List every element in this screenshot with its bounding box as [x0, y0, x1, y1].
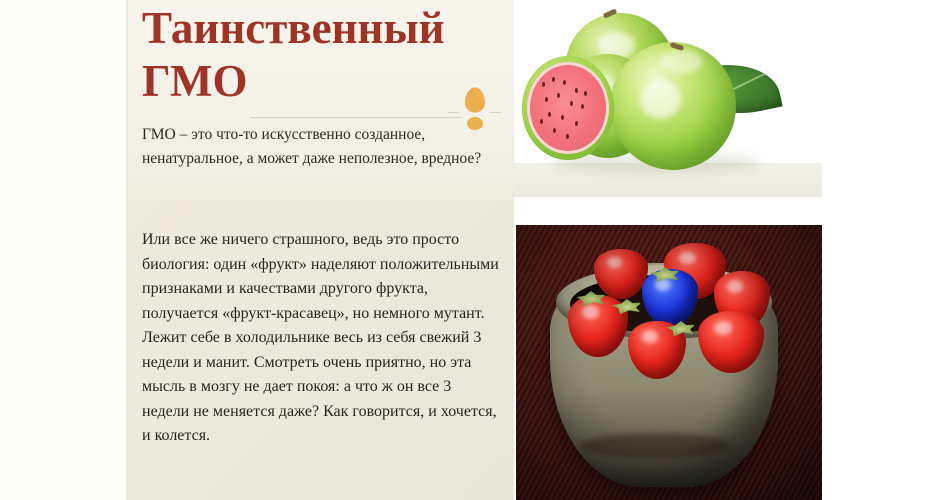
- apple-front: [610, 42, 736, 170]
- left-margin-band: [0, 0, 128, 500]
- presentation-slide: Таинственный ГМО ГМО – это что-то искусс…: [0, 0, 950, 500]
- seed: [566, 134, 569, 139]
- apple-stem: [602, 8, 617, 18]
- seed: [575, 88, 578, 93]
- exclamation-ornament-icon: [462, 88, 488, 134]
- lede-paragraph: ГМО – это что-то искусственно созданное,…: [142, 123, 490, 171]
- apple-pink-flesh: [527, 62, 609, 154]
- berry-shine: [714, 321, 732, 335]
- berry-shine: [727, 280, 743, 293]
- seed: [581, 104, 584, 109]
- ornament-tick-right: [490, 112, 501, 113]
- seed: [540, 119, 543, 124]
- seed: [542, 82, 545, 87]
- body-paragraph: Или все же ничего страшного, ведь это пр…: [142, 228, 502, 449]
- seed: [563, 80, 566, 85]
- apple-sheen: [660, 50, 703, 73]
- bowl-shading: [580, 433, 730, 459]
- apple-cut-half: [522, 56, 614, 160]
- apple-sheen: [640, 80, 680, 118]
- seed: [552, 77, 555, 82]
- berry-shine: [642, 330, 658, 343]
- seed: [561, 115, 564, 120]
- seed: [553, 128, 556, 133]
- seed: [545, 97, 548, 102]
- seed: [548, 112, 551, 117]
- seed: [584, 91, 587, 96]
- ornament-tick-left: [448, 112, 459, 113]
- text-content-panel: Таинственный ГМО ГМО – это что-то искусс…: [128, 0, 514, 500]
- berry-shine: [582, 305, 599, 319]
- berry-shine: [679, 252, 696, 264]
- seed: [575, 121, 578, 126]
- title-divider-rule: [250, 117, 462, 118]
- ornament-drop-shape: [465, 87, 485, 112]
- ornament-dot-shape: [467, 117, 483, 130]
- seed: [570, 101, 573, 106]
- berry-shine: [607, 257, 622, 268]
- strawberries-bowl-photo: [516, 225, 822, 500]
- seed: [557, 93, 560, 98]
- green-apples-photo: [514, 0, 822, 197]
- page-title: Таинственный ГМО: [142, 2, 502, 108]
